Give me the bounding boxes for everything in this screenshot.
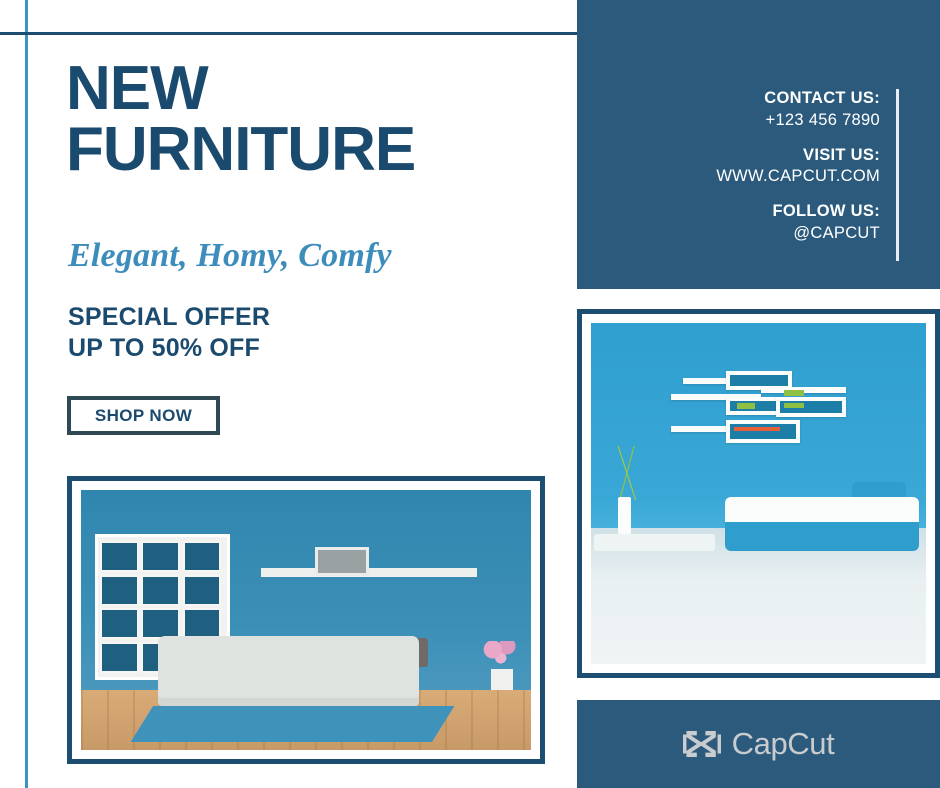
shelf-cell <box>100 575 139 606</box>
green-book <box>784 390 803 396</box>
floating-shelves <box>671 371 865 460</box>
bedroom-photo <box>591 323 926 664</box>
shelf-cell <box>183 575 222 606</box>
contact-social-block: FOLLOW US: @CAPCUT <box>716 201 880 245</box>
shelf-cell <box>141 608 180 639</box>
left-accent-rule <box>25 0 28 788</box>
plant-pot <box>491 669 514 690</box>
shelf-cell <box>100 642 139 673</box>
follow-us-label: FOLLOW US: <box>716 201 880 223</box>
shelf-cell <box>141 575 180 606</box>
bedroom-photo-frame <box>577 309 940 678</box>
green-book <box>737 403 754 409</box>
brand-name: CapCut <box>732 726 835 762</box>
wall-display-box <box>315 547 369 576</box>
shelf-cell <box>141 541 180 572</box>
contact-phone-value[interactable]: +123 456 7890 <box>716 110 880 132</box>
shelf-cell <box>183 608 222 639</box>
shelf-cell <box>100 608 139 639</box>
shelf-plank <box>761 387 846 393</box>
headline-line-one: NEW <box>66 54 208 123</box>
brand-logo-panel: CapCut <box>577 700 940 788</box>
visit-us-label: VISIT US: <box>716 145 880 167</box>
living-room-photo-frame <box>67 476 545 764</box>
plant-stems <box>604 446 651 501</box>
offer-line-one: SPECIAL OFFER <box>68 302 270 333</box>
contact-website-block: VISIT US: WWW.CAPCUT.COM <box>716 145 880 189</box>
contact-us-label: CONTACT US: <box>716 88 880 110</box>
offer-line-two: UP TO 50% OFF <box>68 333 270 364</box>
contact-accent-rule <box>896 89 899 261</box>
shelf-cell <box>100 541 139 572</box>
low-bench <box>594 534 715 551</box>
contact-handle-value[interactable]: @CAPCUT <box>716 223 880 245</box>
shelf-cell <box>183 541 222 572</box>
contact-details: CONTACT US: +123 456 7890 VISIT US: WWW.… <box>716 88 880 245</box>
white-sofa <box>158 636 419 706</box>
capcut-logo-icon <box>683 729 721 759</box>
poster-canvas: NEW FURNITURE Elegant, Homy, Comfy SPECI… <box>0 0 940 788</box>
tagline: Elegant, Homy, Comfy <box>68 237 392 275</box>
shelf-box <box>726 420 800 443</box>
orchid-flowers <box>482 641 518 670</box>
contact-phone-block: CONTACT US: +123 456 7890 <box>716 88 880 132</box>
white-vase <box>618 497 631 535</box>
green-book <box>784 403 803 408</box>
living-room-photo <box>81 490 531 750</box>
page-title: NEW FURNITURE <box>66 58 566 181</box>
blue-rug <box>131 706 455 742</box>
contact-panel: CONTACT US: +123 456 7890 VISIT US: WWW.… <box>577 0 940 289</box>
contact-website-value[interactable]: WWW.CAPCUT.COM <box>716 166 880 188</box>
red-book <box>734 427 781 431</box>
headline-line-two: FURNITURE <box>66 119 566 180</box>
wall-shelf <box>261 568 477 577</box>
special-offer-text: SPECIAL OFFER UP TO 50% OFF <box>68 302 270 363</box>
daybed <box>725 497 919 552</box>
shop-now-button[interactable]: SHOP NOW <box>67 396 220 435</box>
